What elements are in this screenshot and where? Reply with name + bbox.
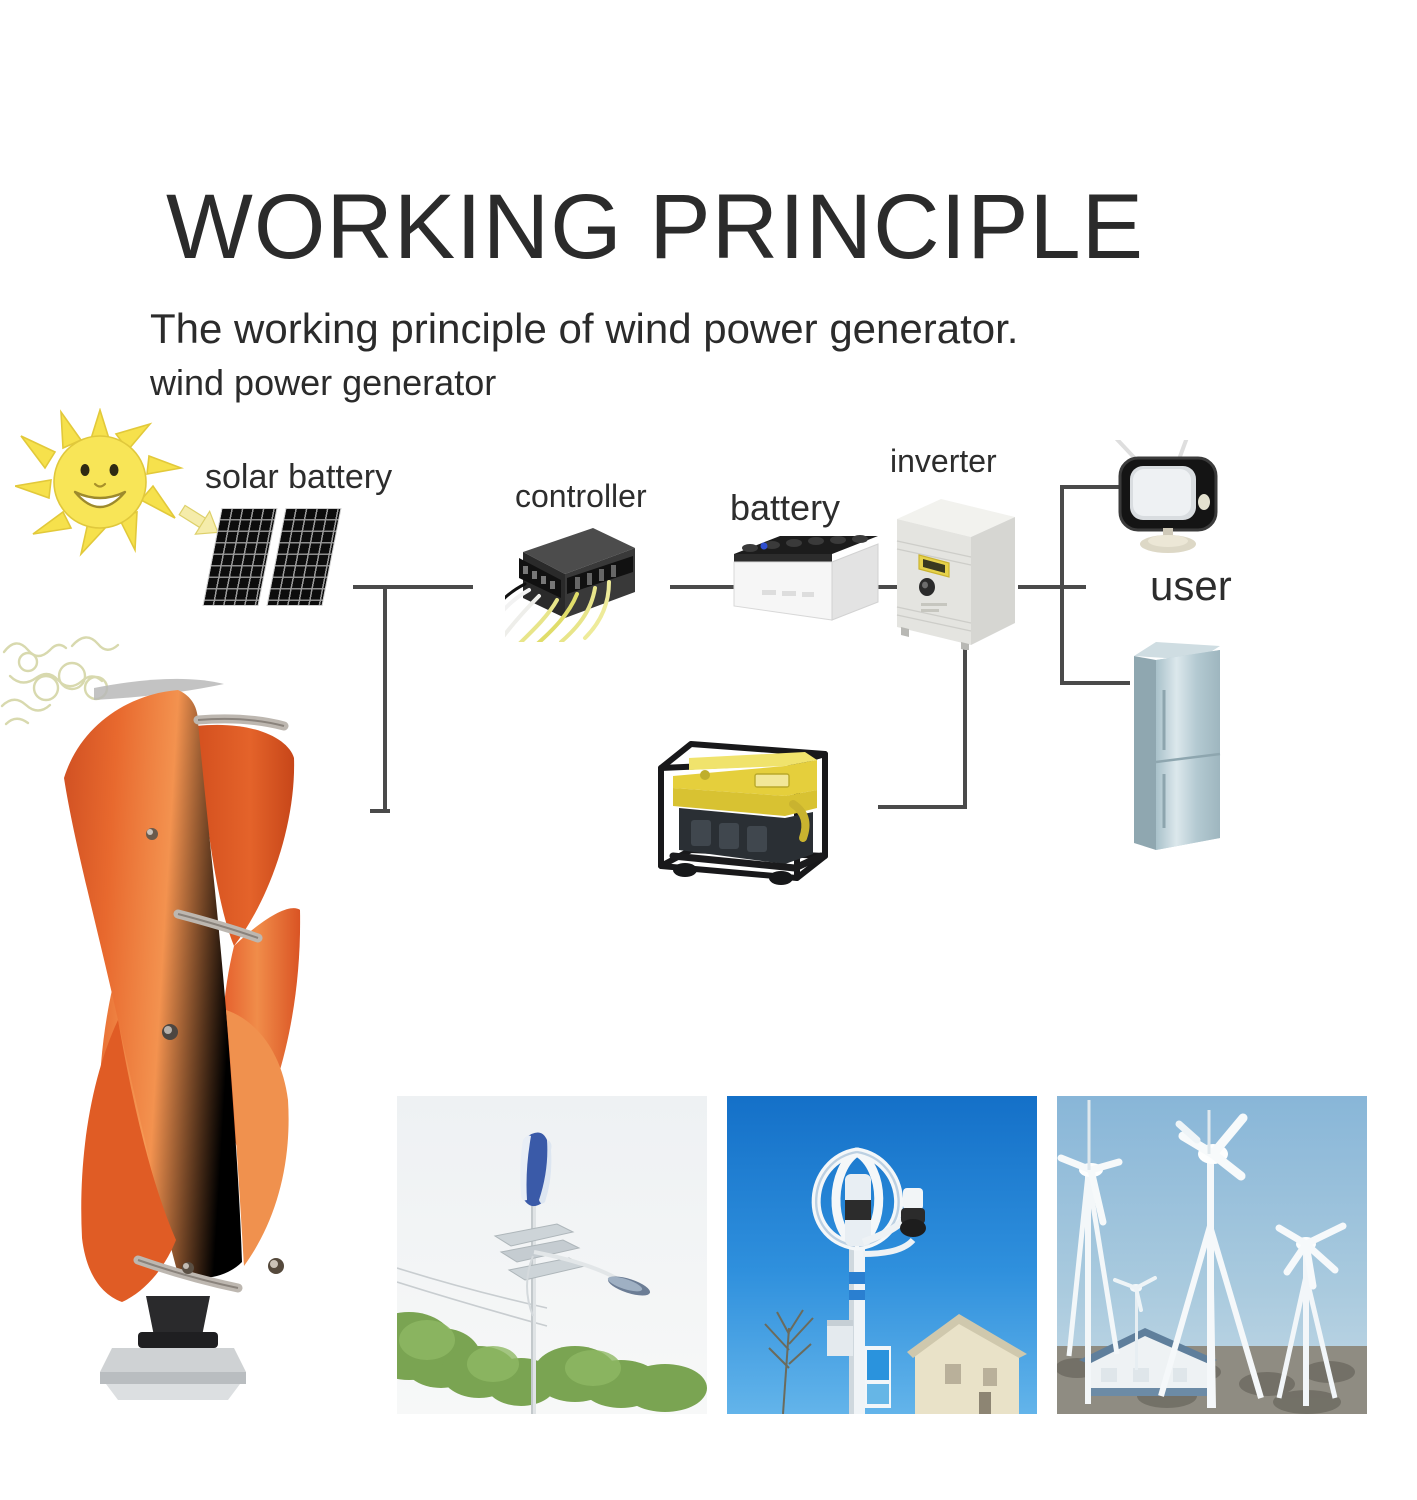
photo-maglev-vertical-turbine bbox=[727, 1096, 1037, 1414]
refrigerator-icon bbox=[1128, 638, 1226, 853]
inverter-icon bbox=[893, 495, 1018, 650]
page-title: WORKING PRINCIPLE bbox=[0, 175, 1310, 280]
sun-icon bbox=[15, 408, 185, 558]
solar-panel-icon bbox=[208, 508, 348, 608]
label-inverter: inverter bbox=[890, 443, 997, 480]
label-controller: controller bbox=[515, 478, 647, 515]
solar-panel-left bbox=[202, 508, 277, 606]
solar-panel-right bbox=[266, 508, 341, 606]
wire-bus-to-fridge bbox=[1060, 681, 1130, 685]
charge-controller-icon bbox=[505, 522, 655, 642]
photo-gallery bbox=[397, 1096, 1387, 1416]
subtitle-line-2: wind power generator bbox=[150, 362, 496, 404]
television-icon bbox=[1108, 440, 1233, 565]
photo-wind-turbine-farm bbox=[1057, 1096, 1367, 1414]
label-solar-battery: solar battery bbox=[205, 458, 392, 497]
lead-acid-battery-icon bbox=[728, 528, 883, 623]
wire-inverter-riser bbox=[963, 648, 967, 808]
wire-user-bus bbox=[1060, 485, 1064, 685]
wire-turbine-riser bbox=[383, 585, 387, 813]
label-user: user bbox=[1150, 562, 1232, 610]
wire-turbine-stub bbox=[370, 809, 390, 813]
photo-wind-solar-street-light bbox=[397, 1096, 707, 1414]
vertical-axis-wind-turbine-icon bbox=[20, 660, 330, 1400]
subtitle-line-1: The working principle of wind power gene… bbox=[150, 305, 1018, 353]
wire-generator-to-inverter bbox=[878, 805, 967, 809]
wire-inverter-to-user-bus bbox=[1018, 585, 1086, 589]
label-battery: battery bbox=[730, 487, 840, 529]
wire-solar-to-controller bbox=[353, 585, 473, 589]
gas-generator-icon bbox=[645, 728, 845, 888]
product-info-image: WORKING PRINCIPLE The working principle … bbox=[0, 0, 1417, 1500]
